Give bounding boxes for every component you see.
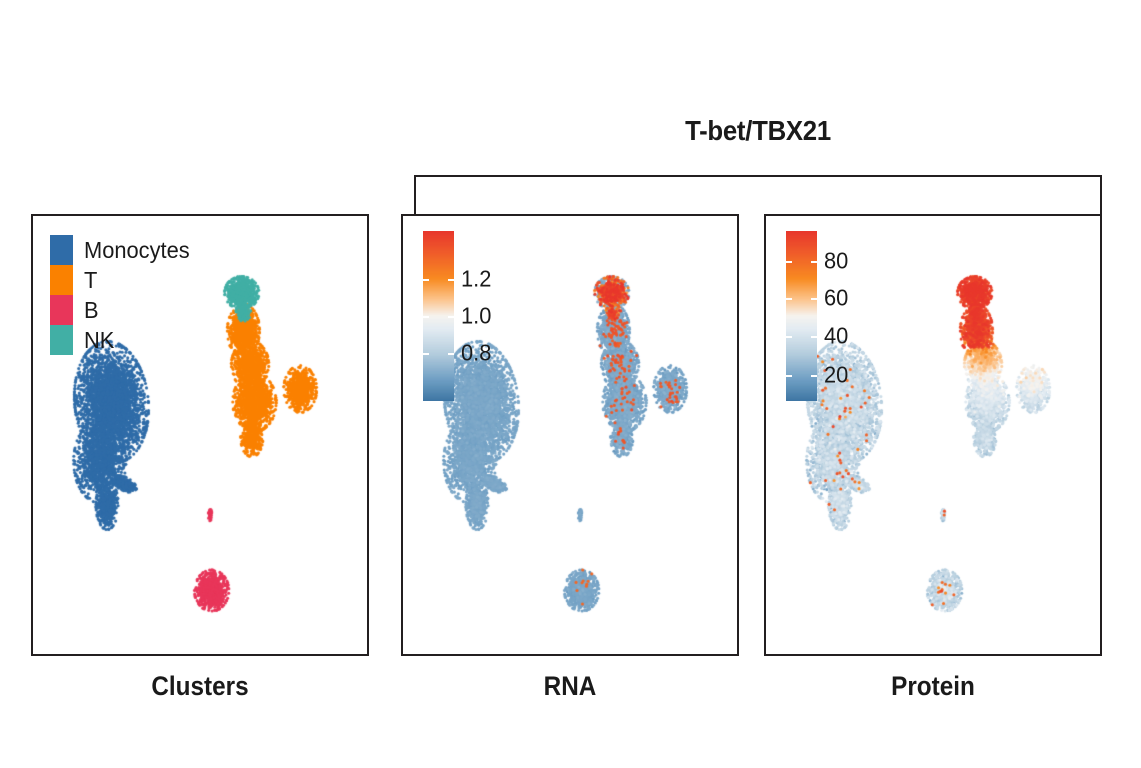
panel-caption-clusters: Clusters (48, 671, 352, 702)
colorbar-tickmark-protein-40-left (786, 336, 792, 338)
panel-caption-protein: Protein (781, 671, 1085, 702)
colorbar-tick-rna-0.8: 0.8 (461, 339, 491, 366)
colorbar-tickmark-rna-0.8-left (423, 353, 429, 355)
colorbar-tick-labels-rna: 1.21.00.8 (461, 231, 539, 401)
panel-caption-rna: RNA (418, 671, 722, 702)
legend-row-monocytes[interactable]: Monocytes (50, 235, 195, 265)
legend-row-t[interactable]: T (50, 265, 195, 295)
legend-swatch-monocytes (50, 235, 73, 265)
colorbar-tickmark-protein-80-left (786, 261, 792, 263)
colorbar-tickmark-protein-20-right (811, 375, 817, 377)
legend-swatch-t (50, 265, 73, 295)
legend-label-b: B (84, 299, 99, 322)
panel-protein[interactable]: 80604020 (764, 214, 1102, 656)
page-title: T-bet/TBX21 (442, 115, 1075, 147)
colorbar-tickmark-protein-80-right (811, 261, 817, 263)
colorbar-tickmark-rna-1.2-right (448, 279, 454, 281)
legend-swatch-b (50, 295, 73, 325)
colorbar-protein: 80604020 (786, 231, 902, 401)
legend-row-b[interactable]: B (50, 295, 195, 325)
colorbar-tick-protein-40: 40 (824, 322, 848, 349)
legend-swatch-nk (50, 325, 73, 355)
colorbar-tick-protein-80: 80 (824, 247, 848, 274)
panel-clusters[interactable]: MonocytesTBNK (31, 214, 369, 656)
colorbar-gradient-protein (786, 231, 817, 401)
colorbar-gradient-rna (423, 231, 454, 401)
panel-group-bracket (414, 175, 1102, 215)
colorbar-tickmark-rna-0.8-right (448, 353, 454, 355)
colorbar-tick-rna-1.0: 1.0 (461, 303, 491, 330)
colorbar-rna: 1.21.00.8 (423, 231, 539, 401)
bracket-right-tick (1100, 175, 1102, 215)
colorbar-tick-protein-60: 60 (824, 285, 848, 312)
bracket-horizontal-bar (414, 175, 1102, 177)
colorbar-tickmark-protein-20-left (786, 375, 792, 377)
colorbar-tickmark-rna-1.0-left (423, 316, 429, 318)
panel-rna[interactable]: 1.21.00.8 (401, 214, 739, 656)
colorbar-tickmark-protein-40-right (811, 336, 817, 338)
colorbar-tick-labels-protein: 80604020 (824, 231, 902, 401)
cluster-legend: MonocytesTBNK (50, 235, 195, 355)
colorbar-tick-protein-20: 20 (824, 361, 848, 388)
legend-label-nk: NK (84, 329, 114, 352)
legend-label-t: T (84, 269, 97, 292)
legend-row-nk[interactable]: NK (50, 325, 195, 355)
colorbar-tickmark-protein-60-right (811, 298, 817, 300)
figure-root: T-bet/TBX21 MonocytesTBNK Clusters 1.21.… (0, 0, 1141, 768)
colorbar-tickmark-protein-60-left (786, 298, 792, 300)
colorbar-tickmark-rna-1.0-right (448, 316, 454, 318)
colorbar-tick-rna-1.2: 1.2 (461, 266, 491, 293)
colorbar-tickmark-rna-1.2-left (423, 279, 429, 281)
bracket-left-tick (414, 175, 416, 215)
legend-label-monocytes: Monocytes (84, 239, 190, 262)
